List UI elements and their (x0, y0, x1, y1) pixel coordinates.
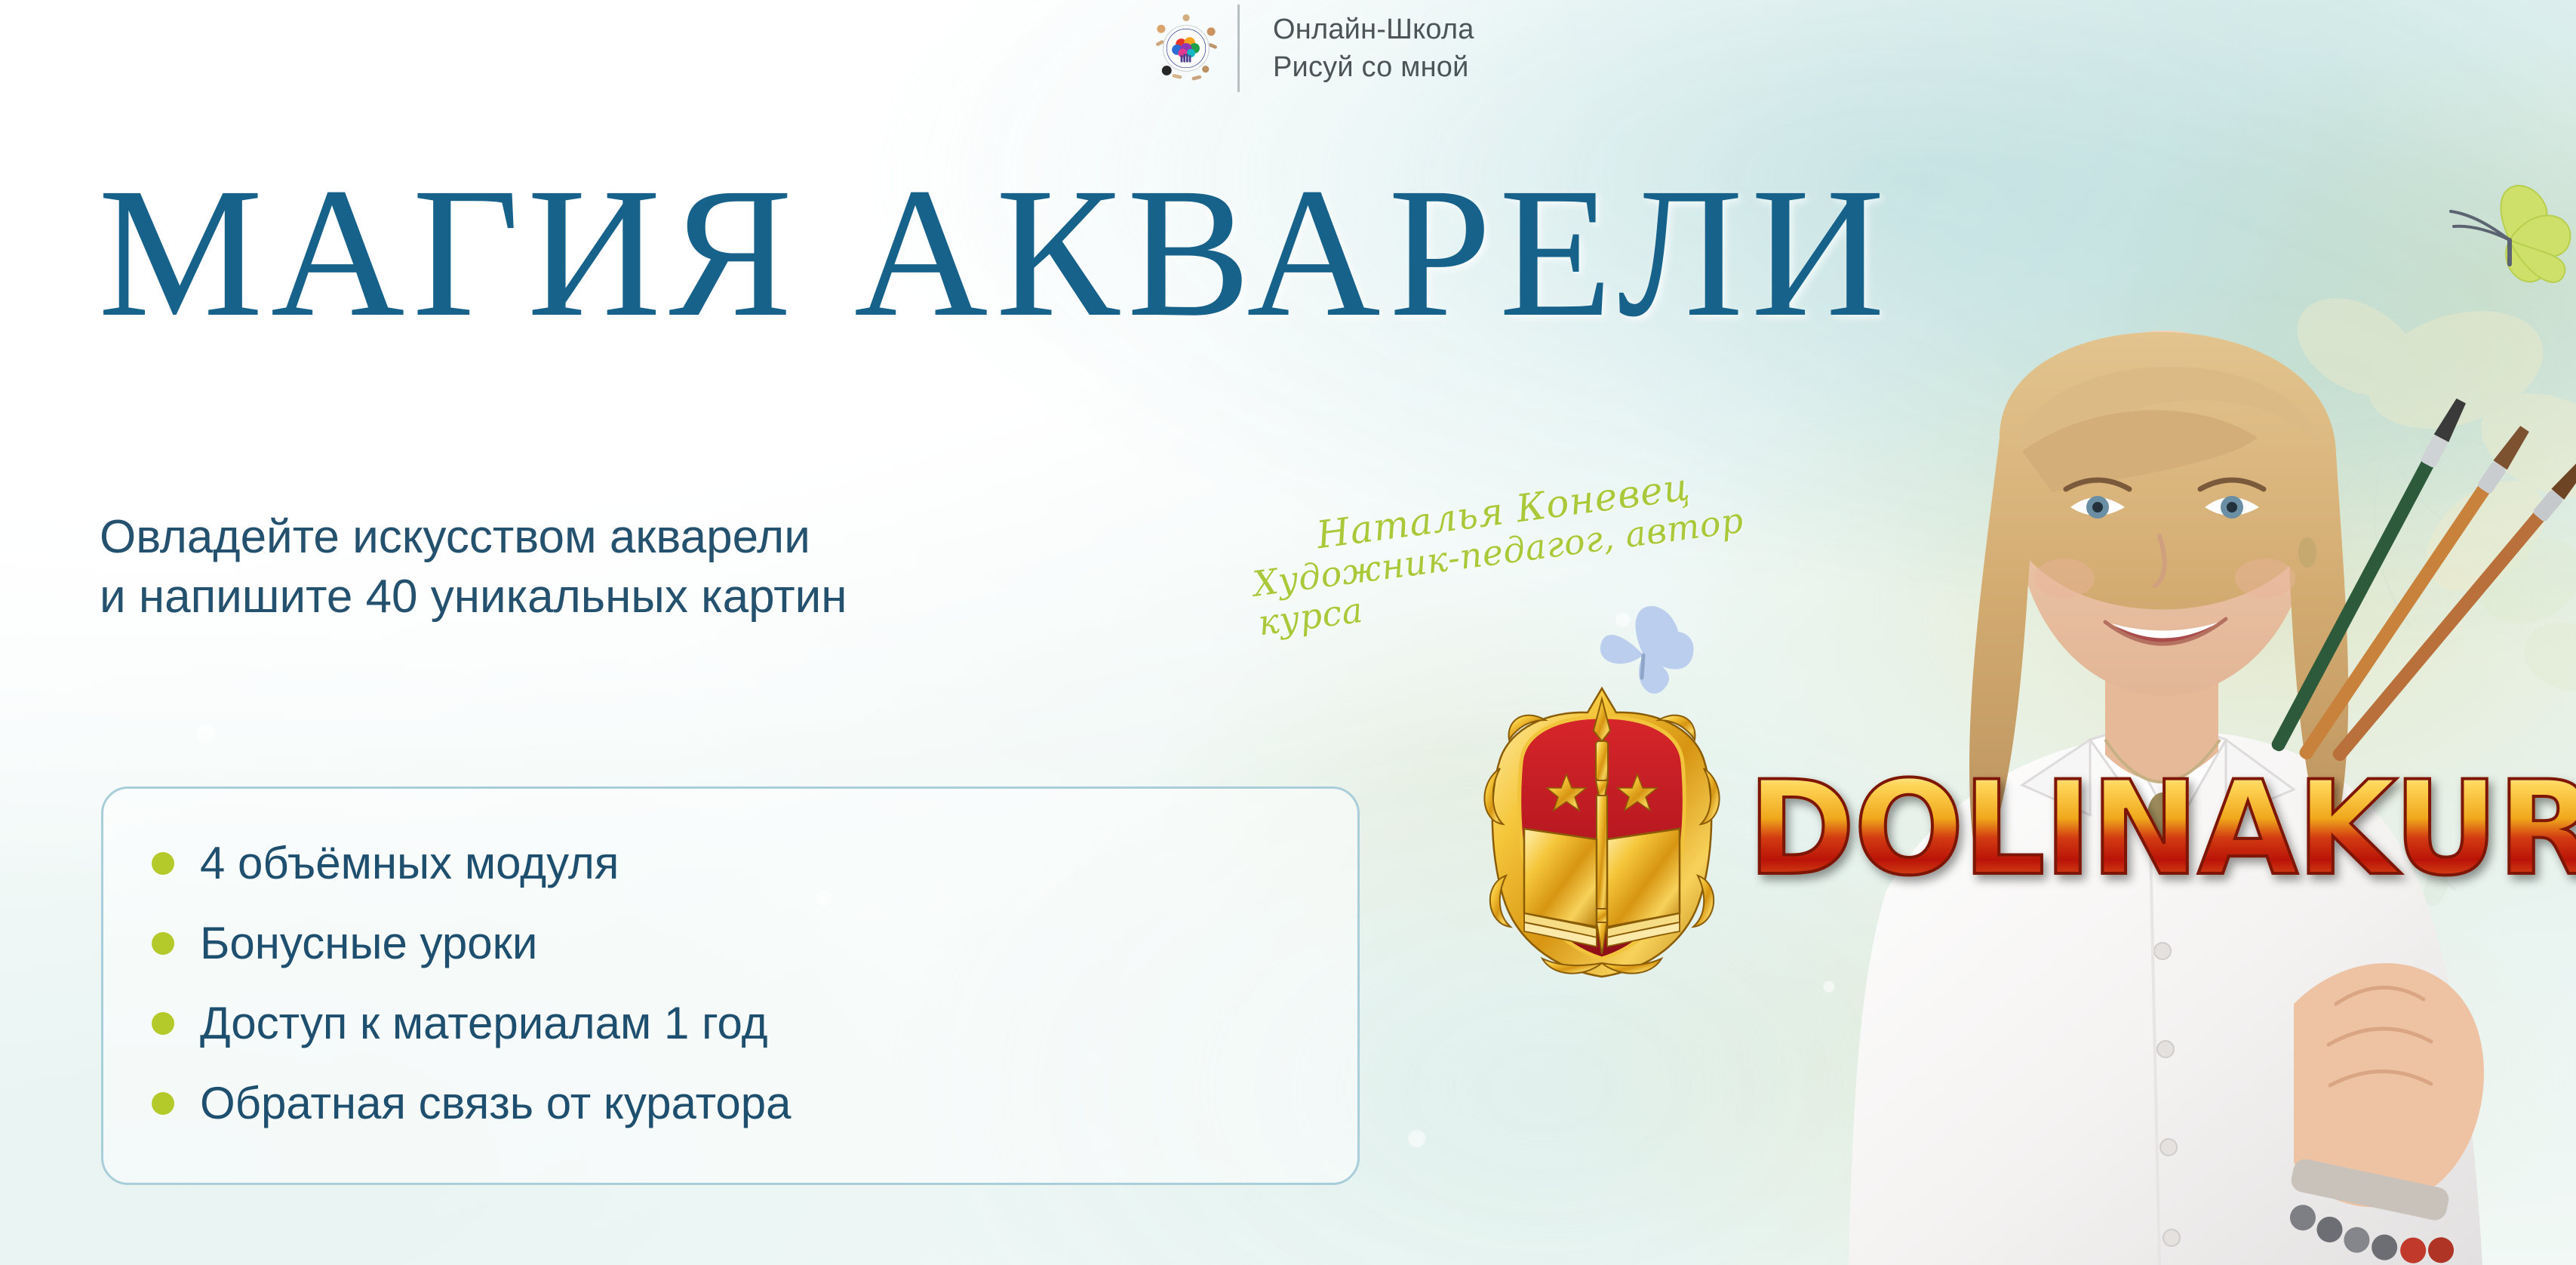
brand-line-2: Рисуй со мной (1273, 53, 1474, 82)
watermark-text: DOLINAKURSOV (1748, 764, 2576, 894)
brand-text-block: Онлайн-Школа Рисуй со мной (1256, 15, 1474, 82)
list-item: Бонусные уроки (152, 903, 1357, 983)
page-title: МАГИЯ АКВАРЕЛИ (98, 160, 1892, 346)
feature-label: Обратная связь от куратора (200, 1081, 792, 1126)
list-item: Доступ к материалам 1 год (152, 983, 1357, 1063)
heraldic-shield-crest-icon (1477, 678, 1726, 980)
school-logo-icon (1151, 14, 1221, 83)
header-divider (1237, 5, 1240, 92)
brand-line-1: Онлайн-Школа (1273, 15, 1474, 44)
feature-label: Доступ к материалам 1 год (200, 1001, 768, 1046)
bullet-dot-icon (152, 852, 174, 875)
bullet-dot-icon (152, 932, 174, 955)
feature-label: Бонусные уроки (200, 921, 537, 966)
bullet-dot-icon (152, 1012, 174, 1035)
list-item: 4 объёмных модуля (152, 823, 1357, 903)
bullet-dot-icon (152, 1092, 174, 1115)
brand-header: Онлайн-Школа Рисуй со мной (1151, 0, 1474, 97)
butterfly-icon (2437, 168, 2576, 303)
list-item: Обратная связь от куратора (152, 1063, 1357, 1143)
hero-subtitle-line-2: и напишите 40 уникальных картин (100, 567, 847, 626)
watermark: DOLINAKURSOV (1477, 678, 2573, 980)
hero-subtitle-line-1: Овладейте искусством акварели (100, 507, 847, 567)
feature-label: 4 объёмных модуля (200, 841, 619, 886)
promo-banner: Онлайн-Школа Рисуй со мной МАГИЯ АКВАРЕЛ… (0, 0, 2576, 1265)
hero-subtitle: Овладейте искусством акварели и напишите… (100, 507, 847, 627)
features-card: 4 объёмных модуля Бонусные уроки Доступ … (101, 786, 1360, 1185)
